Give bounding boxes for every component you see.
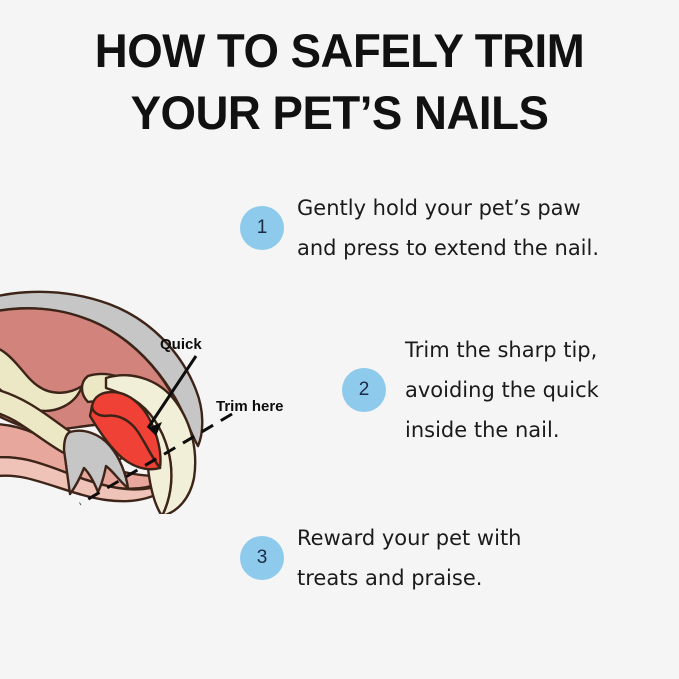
step-3-text: Reward your pet with treats and praise.: [297, 518, 522, 598]
title-line-2: YOUR PET’S NAILS: [10, 82, 669, 144]
step-1-badge: 1: [240, 206, 284, 250]
step-1-text: Gently hold your pet’s paw and press to …: [297, 188, 599, 268]
page-title: HOW TO SAFELY TRIM YOUR PET’S NAILS: [0, 20, 679, 144]
step-3-badge: 3: [240, 536, 284, 580]
step-1: 1 Gently hold your pet’s paw and press t…: [240, 188, 599, 268]
label-quick: Quick: [160, 336, 202, 353]
step-2-text: Trim the sharp tip, avoiding the quick i…: [405, 330, 599, 450]
label-trim-here: Trim here: [216, 398, 284, 415]
infographic-root: HOW TO SAFELY TRIM YOUR PET’S NAILS: [0, 0, 679, 679]
step-2-badge: 2: [342, 368, 386, 412]
step-3: 3 Reward your pet with treats and praise…: [240, 518, 522, 598]
step-2: 2 Trim the sharp tip, avoiding the quick…: [342, 330, 599, 450]
title-line-1: HOW TO SAFELY TRIM: [10, 20, 669, 82]
